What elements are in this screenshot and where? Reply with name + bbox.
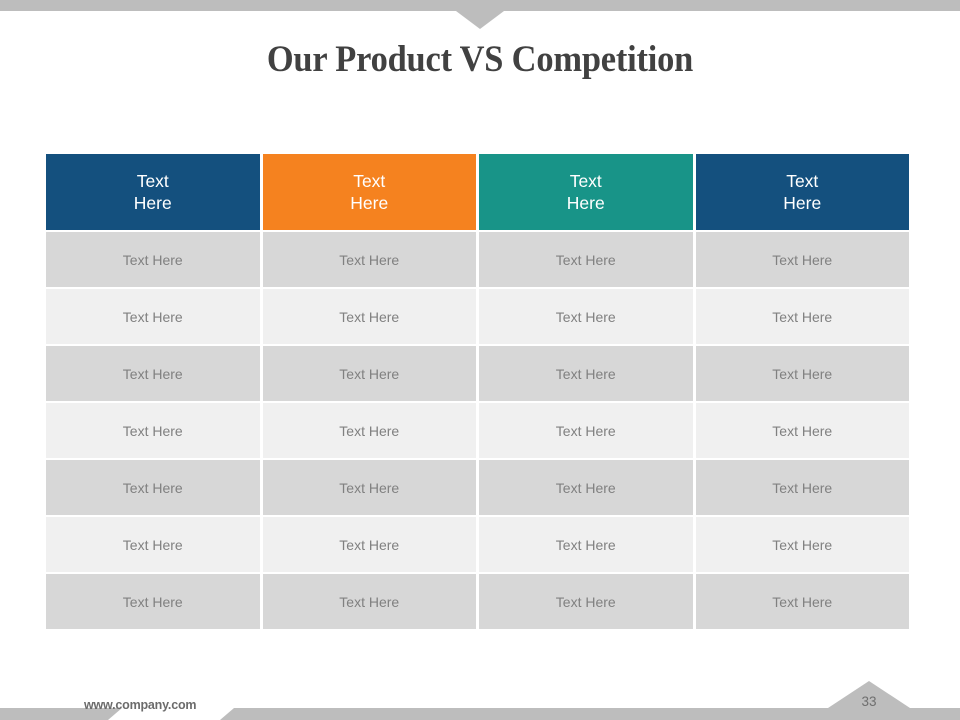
table-cell[interactable]: Text Here	[696, 346, 910, 401]
table-cell[interactable]: Text Here	[479, 289, 693, 344]
table-cell[interactable]: Text Here	[696, 517, 910, 572]
table-header-cell-4-line2: Here	[696, 192, 910, 214]
table-cell[interactable]: Text Here	[479, 232, 693, 287]
table-row: Text Here Text Here Text Here Text Here	[46, 232, 909, 287]
table-row: Text Here Text Here Text Here Text Here	[46, 517, 909, 572]
footer-bar-right	[234, 708, 960, 720]
table-cell[interactable]: Text Here	[479, 346, 693, 401]
table-cell[interactable]: Text Here	[696, 574, 910, 629]
table-cell[interactable]: Text Here	[263, 346, 477, 401]
table-row: Text Here Text Here Text Here Text Here	[46, 460, 909, 515]
page-number: 33	[828, 694, 910, 709]
table-body: Text Here Text Here Text Here Text Here …	[46, 232, 909, 629]
table-header-cell-1[interactable]: Text Here	[46, 154, 260, 230]
footer-notch-right-icon	[220, 708, 234, 720]
comparison-table: Text Here Text Here Text Here Text Here …	[43, 152, 912, 631]
table-header-cell-2-line2: Here	[263, 192, 477, 214]
table-cell[interactable]: Text Here	[696, 460, 910, 515]
table-cell[interactable]: Text Here	[696, 403, 910, 458]
table-cell[interactable]: Text Here	[263, 232, 477, 287]
table-header-cell-4[interactable]: Text Here	[696, 154, 910, 230]
footer-website-url[interactable]: www.company.com	[84, 698, 196, 712]
table-header-row: Text Here Text Here Text Here Text Here	[46, 154, 909, 230]
table-cell[interactable]: Text Here	[46, 403, 260, 458]
table-cell[interactable]: Text Here	[46, 460, 260, 515]
table-cell[interactable]: Text Here	[263, 289, 477, 344]
top-accent-bar	[0, 0, 960, 11]
table-cell[interactable]: Text Here	[46, 232, 260, 287]
table-cell[interactable]: Text Here	[696, 289, 910, 344]
table-cell[interactable]: Text Here	[479, 460, 693, 515]
table-header-cell-1-line1: Text	[46, 170, 260, 192]
table-cell[interactable]: Text Here	[696, 232, 910, 287]
table-cell[interactable]: Text Here	[479, 574, 693, 629]
table-cell[interactable]: Text Here	[479, 517, 693, 572]
page-title: Our Product VS Competition	[34, 38, 927, 81]
table-header-cell-4-line1: Text	[696, 170, 910, 192]
table-header-cell-3-line1: Text	[479, 170, 693, 192]
table-header-cell-3-line2: Here	[479, 192, 693, 214]
table-header: Text Here Text Here Text Here Text Here	[46, 154, 909, 230]
table-cell[interactable]: Text Here	[46, 574, 260, 629]
table-cell[interactable]: Text Here	[479, 403, 693, 458]
table-cell[interactable]: Text Here	[263, 517, 477, 572]
table-header-cell-3[interactable]: Text Here	[479, 154, 693, 230]
table-cell[interactable]: Text Here	[46, 517, 260, 572]
table-cell[interactable]: Text Here	[46, 289, 260, 344]
table-row: Text Here Text Here Text Here Text Here	[46, 574, 909, 629]
table-header-cell-2-line1: Text	[263, 170, 477, 192]
table-cell[interactable]: Text Here	[263, 460, 477, 515]
top-notch-triangle-icon	[456, 11, 504, 29]
table-cell[interactable]: Text Here	[263, 403, 477, 458]
table-header-cell-1-line2: Here	[46, 192, 260, 214]
table-cell[interactable]: Text Here	[263, 574, 477, 629]
table-row: Text Here Text Here Text Here Text Here	[46, 403, 909, 458]
table-header-cell-2[interactable]: Text Here	[263, 154, 477, 230]
table-cell[interactable]: Text Here	[46, 346, 260, 401]
table-row: Text Here Text Here Text Here Text Here	[46, 346, 909, 401]
table-row: Text Here Text Here Text Here Text Here	[46, 289, 909, 344]
